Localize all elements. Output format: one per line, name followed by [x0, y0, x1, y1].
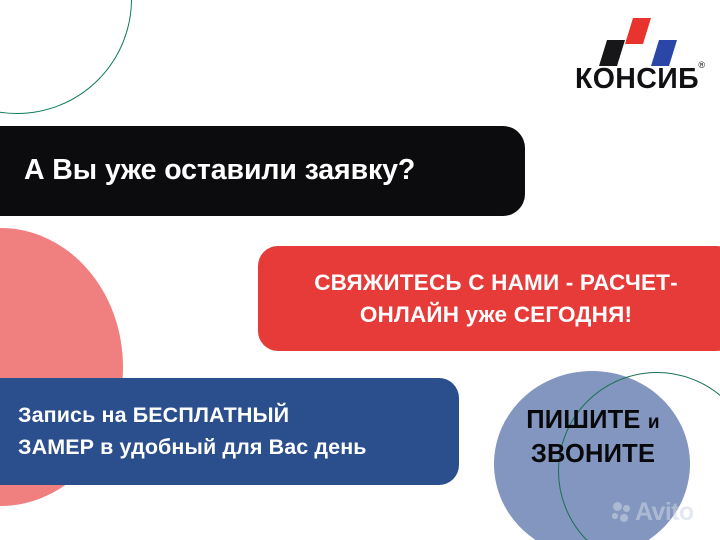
contact-call-to-action: ПИШИТЕ и ЗВОНИТЕ: [494, 404, 692, 472]
brand-logo: КОНСИБ ®: [571, 16, 703, 104]
avito-wordmark: Avito: [635, 500, 694, 525]
booking-banner: Запись на БЕСПЛАТНЫЙ ЗАМЕР в удобный для…: [0, 378, 459, 485]
logo-wordmark: КОНСИБ: [571, 65, 703, 94]
green-ring-decoration-top-left: [0, 0, 132, 114]
cta-line-2: ЗВОНИТЕ: [531, 440, 655, 468]
avito-watermark: Avito: [612, 500, 694, 525]
headline-banner: А Вы уже оставили заявку?: [0, 126, 525, 216]
logo-mark-group: [571, 16, 703, 68]
offer-text: СВЯЖИТЕСЬ С НАМИ - РАСЧЕТ- ОНЛАЙН уже СЕ…: [314, 267, 678, 331]
booking-text: Запись на БЕСПЛАТНЫЙ ЗАМЕР в удобный для…: [18, 400, 367, 462]
headline-text: А Вы уже оставили заявку?: [24, 155, 415, 186]
booking-line-2: ЗАМЕР в удобный для Вас день: [18, 435, 367, 459]
booking-line-1: Запись на БЕСПЛАТНЫЙ: [18, 403, 289, 427]
cta-line-1-strong: ПИШИТЕ: [526, 406, 640, 434]
logo-parallelograms-icon: [571, 16, 703, 68]
offer-line-1: СВЯЖИТЕСЬ С НАМИ - РАСЧЕТ-: [314, 270, 678, 295]
registered-trademark-symbol: ®: [698, 60, 705, 70]
offer-banner: СВЯЖИТЕСЬ С НАМИ - РАСЧЕТ- ОНЛАЙН уже СЕ…: [258, 246, 720, 351]
offer-line-2: ОНЛАЙН уже СЕГОДНЯ!: [360, 302, 632, 327]
logo-mark-red: [625, 18, 651, 44]
cta-line-1-conjunction: и: [648, 412, 660, 433]
avito-dots-icon: [612, 502, 633, 523]
advertisement-banner: КОНСИБ ® А Вы уже оставили заявку? СВЯЖИ…: [0, 0, 720, 540]
